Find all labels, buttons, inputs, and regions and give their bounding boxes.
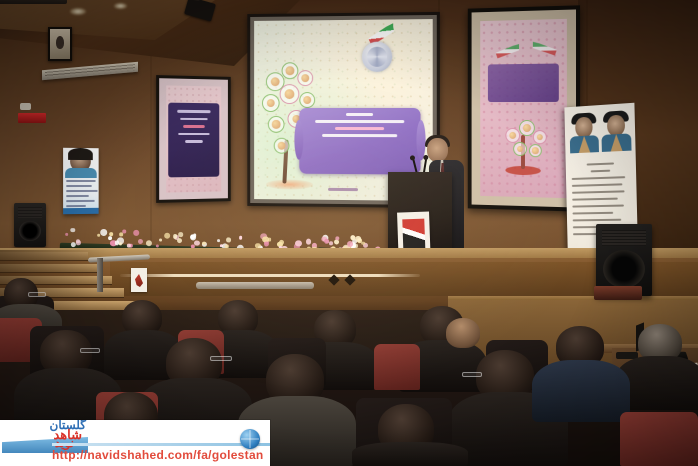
- navid-shahed-golestan-watermark: گلستان شاهد نويد http://navidshahed.com/…: [0, 420, 270, 466]
- framed-portrait-high-wall: [48, 27, 72, 61]
- pa-speaker-cabinet-left: [14, 203, 46, 247]
- slide-title-card: [299, 108, 420, 175]
- slide-date: [328, 188, 358, 191]
- stage-handrail: [196, 282, 314, 289]
- conference-hall-photo: گلستان شاهد نويد http://navidshahed.com/…: [0, 0, 698, 466]
- allah-medallion-icon: [362, 42, 392, 72]
- ceiling-light-icon: [70, 8, 86, 15]
- leader-portrait-icon: [569, 112, 599, 153]
- speaker-head: [427, 138, 448, 162]
- watermark-url[interactable]: http://navidshahed.com/fa/golestan: [52, 448, 264, 462]
- framed-calligraphy-left: [156, 75, 231, 203]
- framed-poster-right: [468, 5, 580, 211]
- exit-sign: [18, 113, 46, 123]
- ceiling-light-icon: [114, 3, 127, 9]
- wall-camera-icon: [20, 103, 31, 110]
- leader-portrait-icon: [601, 110, 632, 152]
- standing-banner-left: [63, 148, 99, 214]
- globe-icon: [240, 429, 260, 449]
